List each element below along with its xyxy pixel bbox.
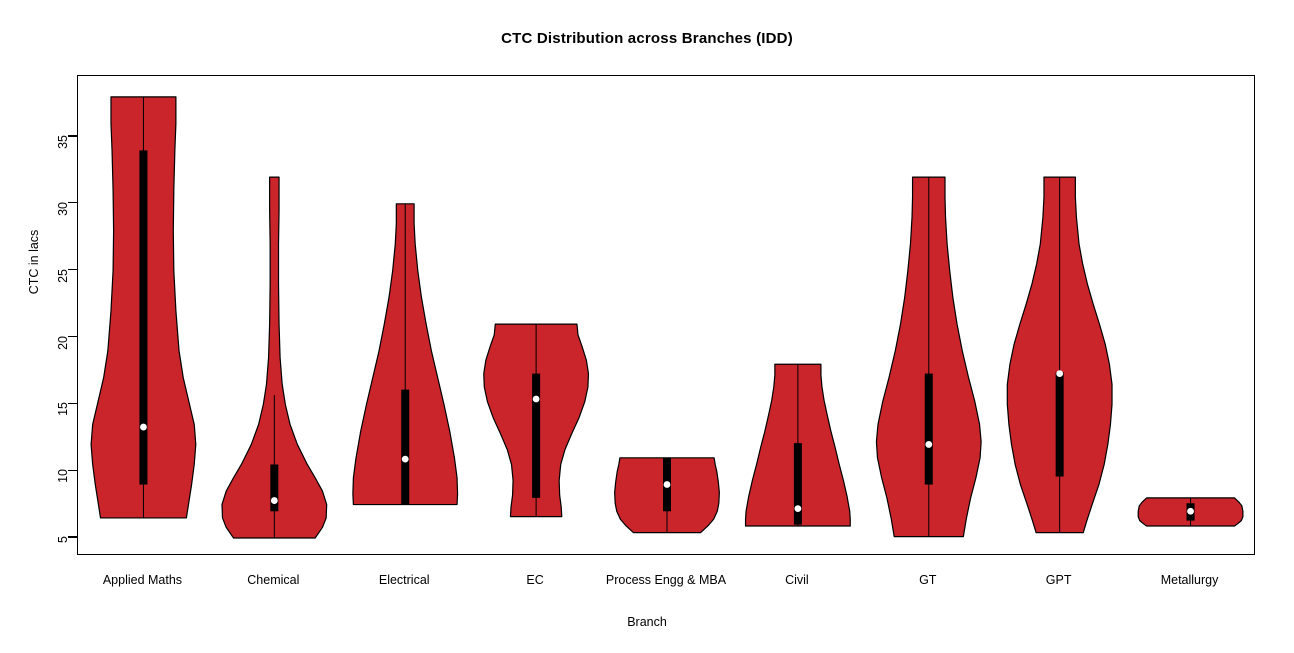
violin-group[interactable] xyxy=(615,458,720,533)
x-tick-label: Metallurgy xyxy=(1090,573,1290,587)
y-tick-label: 5 xyxy=(56,536,70,574)
y-tick-label: 20 xyxy=(56,336,70,374)
y-axis-label: CTC in lacs xyxy=(27,202,41,322)
iqr-box[interactable] xyxy=(925,374,933,485)
iqr-box[interactable] xyxy=(794,443,802,525)
median-point[interactable] xyxy=(1187,508,1194,515)
iqr-box[interactable] xyxy=(401,390,409,505)
y-tick-label: 25 xyxy=(56,269,70,307)
page-title: CTC Distribution across Branches (IDD) xyxy=(0,30,1294,47)
iqr-box[interactable] xyxy=(1056,372,1064,476)
y-tick-label: 30 xyxy=(56,202,70,240)
iqr-box[interactable] xyxy=(270,464,278,511)
violin-group[interactable] xyxy=(222,177,327,538)
violin-group[interactable] xyxy=(353,204,458,505)
violin-group[interactable] xyxy=(91,97,196,518)
median-point[interactable] xyxy=(533,396,540,403)
plot-panel xyxy=(77,75,1255,555)
violin-group[interactable] xyxy=(746,364,851,526)
iqr-box[interactable] xyxy=(532,374,540,498)
y-tick-label: 15 xyxy=(56,402,70,440)
median-point[interactable] xyxy=(271,497,278,504)
violin-group[interactable] xyxy=(484,324,589,516)
median-point[interactable] xyxy=(402,456,409,463)
median-point[interactable] xyxy=(140,424,147,431)
x-axis-label: Branch xyxy=(0,615,1294,629)
median-point[interactable] xyxy=(664,481,671,488)
iqr-box[interactable] xyxy=(139,150,147,484)
violin-plot-figure: CTC Distribution across Branches (IDD) C… xyxy=(0,0,1294,653)
violin-canvas xyxy=(78,76,1256,556)
y-tick-label: 10 xyxy=(56,469,70,507)
violin-group[interactable] xyxy=(1007,177,1112,533)
violin-group[interactable] xyxy=(1138,498,1243,526)
y-tick-label: 35 xyxy=(56,135,70,173)
median-point[interactable] xyxy=(794,505,801,512)
median-point[interactable] xyxy=(1056,370,1063,377)
median-point[interactable] xyxy=(925,441,932,448)
violin-group[interactable] xyxy=(876,177,981,537)
